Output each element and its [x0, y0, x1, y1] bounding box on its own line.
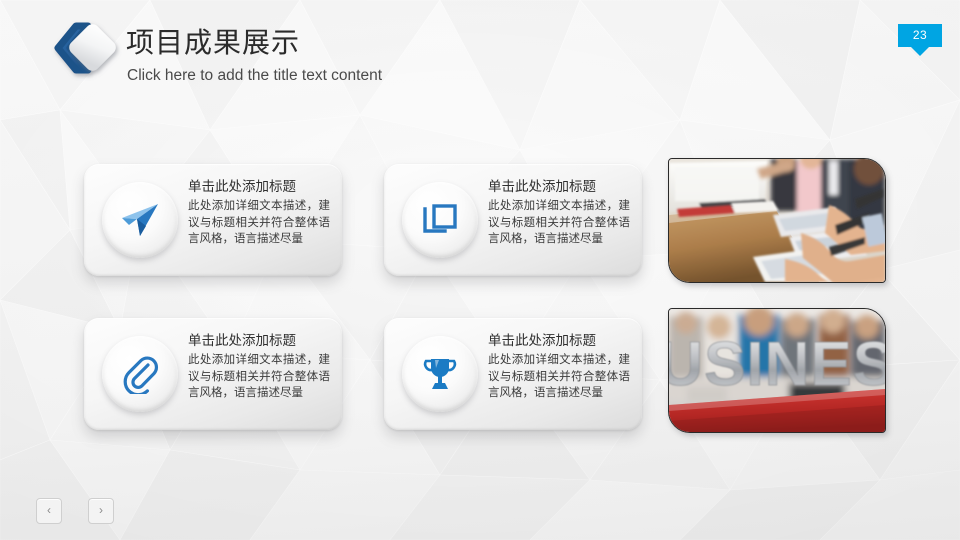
- meeting-photo: [668, 158, 886, 283]
- paperclip-icon: [121, 354, 159, 394]
- card-4-title: 单击此处添加标题: [488, 332, 630, 350]
- card-1-title: 单击此处添加标题: [188, 178, 330, 196]
- paper-plane-icon: [120, 203, 160, 237]
- business-sign-photo-art: BUSINESS: [669, 309, 885, 432]
- page-subtitle: Click here to add the title text content: [127, 66, 382, 86]
- card-2-body: 此处添加详细文本描述，建议与标题相关并符合整体语言风格，语言描述尽量: [488, 198, 630, 248]
- card-3-body: 此处添加详细文本描述，建议与标题相关并符合整体语言风格，语言描述尽量: [188, 352, 330, 402]
- badge-pointer-triangle: [911, 47, 929, 56]
- next-slide-button[interactable]: ›: [88, 498, 114, 524]
- card-2-text: 单击此处添加标题 此处添加详细文本描述，建议与标题相关并符合整体语言风格，语言描…: [488, 178, 630, 248]
- page-number-value: 23: [898, 24, 942, 47]
- content-card-1[interactable]: 单击此处添加标题 此处添加详细文本描述，建议与标题相关并符合整体语言风格，语言描…: [84, 164, 342, 276]
- business-sign-photo: BUSINESS: [668, 308, 886, 433]
- page-number-badge: 23: [898, 24, 942, 56]
- slide-navigation: ‹ ›: [36, 498, 114, 524]
- card-2-title: 单击此处添加标题: [488, 178, 630, 196]
- card-2-icon-circle: [402, 182, 478, 258]
- page-title: 项目成果展示: [126, 26, 300, 60]
- content-card-2[interactable]: 单击此处添加标题 此处添加详细文本描述，建议与标题相关并符合整体语言风格，语言描…: [384, 164, 642, 276]
- card-3-title: 单击此处添加标题: [188, 332, 330, 350]
- chevron-diamond-logo-icon: [44, 18, 126, 88]
- content-card-4[interactable]: 单击此处添加标题 此处添加详细文本描述，建议与标题相关并符合整体语言风格，语言描…: [384, 318, 642, 430]
- slide-canvas: 项目成果展示 Click here to add the title text …: [0, 0, 960, 540]
- slide-header: 项目成果展示 Click here to add the title text …: [0, 0, 960, 110]
- card-3-icon-circle: [102, 336, 178, 412]
- card-1-icon-circle: [102, 182, 178, 258]
- card-4-text: 单击此处添加标题 此处添加详细文本描述，建议与标题相关并符合整体语言风格，语言描…: [488, 332, 630, 402]
- prev-slide-button[interactable]: ‹: [36, 498, 62, 524]
- card-4-icon-circle: [402, 336, 478, 412]
- trophy-icon: [421, 355, 459, 393]
- card-4-body: 此处添加详细文本描述，建议与标题相关并符合整体语言风格，语言描述尽量: [488, 352, 630, 402]
- content-card-3[interactable]: 单击此处添加标题 此处添加详细文本描述，建议与标题相关并符合整体语言风格，语言描…: [84, 318, 342, 430]
- card-1-body: 此处添加详细文本描述，建议与标题相关并符合整体语言风格，语言描述尽量: [188, 198, 330, 248]
- card-3-text: 单击此处添加标题 此处添加详细文本描述，建议与标题相关并符合整体语言风格，语言描…: [188, 332, 330, 402]
- copy-squares-icon: [421, 201, 459, 239]
- meeting-photo-art: [669, 159, 885, 282]
- card-1-text: 单击此处添加标题 此处添加详细文本描述，建议与标题相关并符合整体语言风格，语言描…: [188, 178, 330, 248]
